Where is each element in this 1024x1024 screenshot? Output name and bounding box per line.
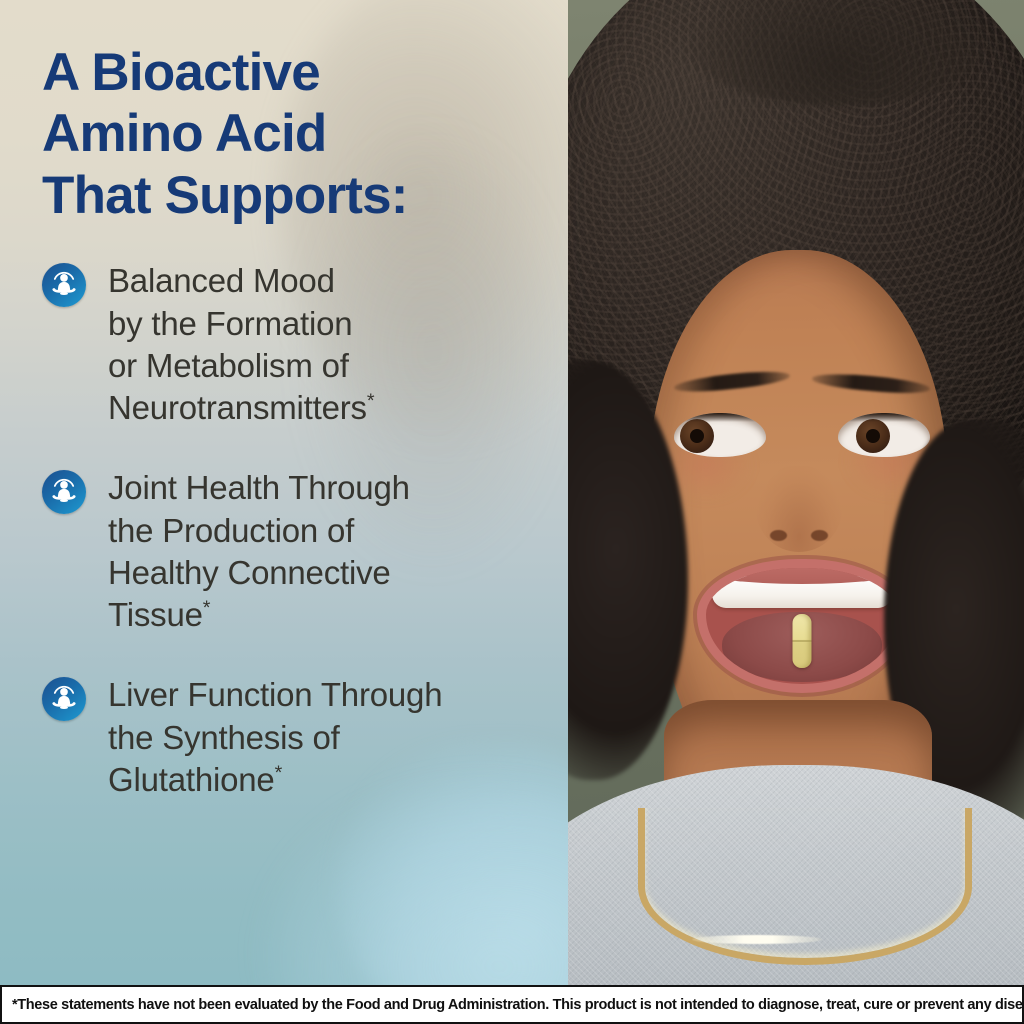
meditating-person-icon	[42, 470, 86, 514]
list-item: Joint Health Through the Production of H…	[42, 467, 544, 636]
supplement-capsule	[793, 614, 812, 668]
eye-left	[674, 413, 766, 457]
open-mouth	[706, 568, 898, 684]
benefit-label: Balanced Mood by the Formation or Metabo…	[108, 260, 374, 429]
fda-disclaimer-bar: *These statements have not been evaluate…	[0, 985, 1024, 1024]
nose	[756, 466, 842, 552]
nostril-right	[811, 530, 828, 541]
iris-right	[856, 419, 890, 453]
meditating-person-icon	[42, 263, 86, 307]
nostril-left	[770, 530, 787, 541]
background-shirt-blur-secondary	[268, 785, 568, 985]
benefit-label: Liver Function Through the Synthesis of …	[108, 674, 442, 801]
benefit-label: Joint Health Through the Production of H…	[108, 467, 410, 636]
eyelash-right	[838, 413, 930, 422]
footnote-marker: *	[203, 597, 211, 619]
page-title: A Bioactive Amino Acid That Supports:	[42, 42, 544, 226]
iris-left	[680, 419, 714, 453]
pupil-left	[690, 429, 704, 443]
pupil-right	[866, 429, 880, 443]
info-panel: A Bioactive Amino Acid That Supports: Ba…	[0, 0, 568, 985]
footnote-marker: *	[367, 390, 375, 412]
list-item: Liver Function Through the Synthesis of …	[42, 674, 544, 801]
footnote-marker: *	[275, 762, 283, 784]
disclaimer-text: *These statements have not been evaluate…	[12, 997, 1024, 1013]
product-infographic: A Bioactive Amino Acid That Supports: Ba…	[0, 0, 1024, 1024]
panel-content: A Bioactive Amino Acid That Supports: Ba…	[0, 0, 568, 801]
lifestyle-photo	[568, 0, 1024, 985]
eyebrow-left	[674, 368, 791, 395]
eye-right	[838, 413, 930, 457]
meditating-person-icon	[42, 677, 86, 721]
benefit-list: Balanced Mood by the Formation or Metabo…	[42, 260, 544, 801]
list-item: Balanced Mood by the Formation or Metabo…	[42, 260, 544, 429]
necklace-highlight	[692, 935, 822, 944]
eyelash-left	[674, 413, 766, 422]
eyebrow-right	[812, 371, 931, 396]
